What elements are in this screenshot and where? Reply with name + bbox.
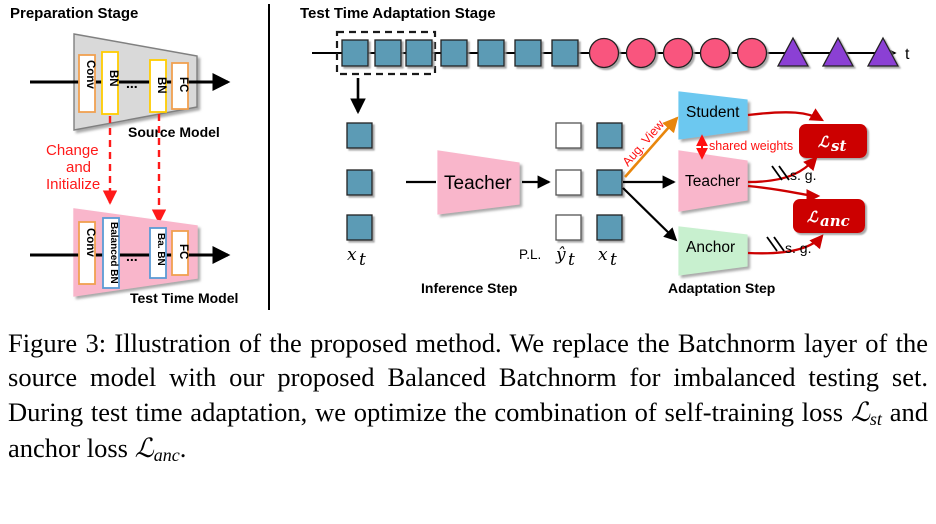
timeline-square-1 [342, 40, 368, 66]
pl-square-1 [556, 123, 581, 148]
loss-st-sub: st [831, 137, 846, 155]
input-square-2 [347, 170, 372, 195]
timeline-axis-label: t [905, 46, 910, 63]
pl-square-2 [556, 170, 581, 195]
tta-stage-title: Test Time Adaptation Stage [300, 5, 496, 22]
input-batch-label-sub: t [359, 250, 366, 270]
adaptation-step-group: Aug. View Student Teacher Anchor shared … [620, 92, 867, 296]
timeline-circle-2 [627, 39, 656, 68]
test-time-model-group: Conv Balanced BN ... Ba. BN FC Test Time… [30, 209, 238, 306]
xt-square-1 [597, 123, 622, 148]
caption-number: Figure 3: [8, 328, 106, 358]
loss-anc-sub: anc [820, 212, 850, 230]
anchor-label: Anchor [686, 239, 735, 256]
source-model-group: Conv BN ... BN FC Source Model [30, 33, 228, 140]
timeline-circle-5 [738, 39, 767, 68]
caption-segment-1: Illustration of the proposed method. We … [8, 328, 928, 427]
xt-label-sub: t [610, 250, 617, 270]
inference-teacher-label: Teacher [444, 173, 512, 194]
caption-loss-st-sub: st [870, 409, 882, 429]
shared-weights-label: shared weights [709, 139, 793, 153]
source-layer-conv-label: Conv [84, 60, 96, 89]
xt-to-anchor-arrow [623, 188, 676, 240]
caption-loss-anc-sub: anc [154, 445, 180, 465]
adaptation-step-caption: Adaptation Step [668, 280, 775, 296]
inference-step-group: 𝑥 t Teacher P.L. ŷ t 𝑥 t Inference Step [347, 123, 622, 296]
test-layer-balanced-bn-1-label: Balanced BN [108, 222, 119, 284]
inference-step-caption: Inference Step [421, 280, 517, 296]
timeline-square-5 [478, 40, 504, 66]
caption-loss-st-symbol: ℒ [851, 397, 870, 428]
timeline-square-2 [375, 40, 401, 66]
student-to-loss-st-arrow [748, 112, 822, 120]
change-initialize-line-2: and [66, 159, 91, 176]
pl-math-label: ŷ [555, 245, 566, 265]
sg-label-1: s. g. [790, 167, 816, 183]
timeline-square-6 [515, 40, 541, 66]
change-initialize-line-3: Initialize [46, 176, 100, 193]
figure-caption: Figure 3: Illustration of the proposed m… [8, 326, 928, 468]
caption-loss-anc-symbol: ℒ [135, 433, 154, 464]
timeline-circle-3 [664, 39, 693, 68]
timeline-circle-4 [701, 39, 730, 68]
xt-square-3 [597, 215, 622, 240]
input-square-3 [347, 215, 372, 240]
teacher-to-loss-anc-arrow [748, 186, 818, 196]
pl-math-label-sub: t [568, 250, 575, 270]
figure-3-diagram: Preparation Stage Conv BN ... BN FC Sour… [0, 0, 936, 316]
xt-label: 𝑥 [598, 245, 608, 265]
timeline: t [312, 32, 910, 74]
pl-square-3 [556, 215, 581, 240]
test-layer-balanced-bn-2-label: Ba. BN [155, 233, 166, 266]
aug-view-label: Aug. View [620, 117, 668, 169]
adapt-teacher-label: Teacher [685, 173, 740, 190]
caption-segment-3: . [180, 433, 187, 463]
timeline-square-3 [406, 40, 432, 66]
change-initialize-line-1: Change [46, 142, 99, 159]
sg-label-2: s. g. [785, 240, 811, 256]
input-square-1 [347, 123, 372, 148]
source-model-label: Source Model [128, 124, 220, 140]
loss-st-symbol: ℒ [818, 133, 830, 151]
student-label: Student [686, 104, 740, 121]
pl-abbrev-label: P.L. [519, 247, 541, 262]
source-layer-fc-label: FC [177, 77, 189, 92]
test-layer-fc-label: FC [177, 244, 189, 259]
test-time-model-label: Test Time Model [130, 290, 238, 306]
source-layer-bn-1-label: BN [107, 70, 119, 87]
change-initialize-label: Change and Initialize [46, 142, 100, 193]
input-batch-label: 𝑥 [347, 245, 357, 265]
source-layer-bn-2-label: BN [155, 77, 167, 94]
test-layer-conv-label: Conv [84, 228, 96, 257]
timeline-square-7 [552, 40, 578, 66]
xt-square-2 [597, 170, 622, 195]
source-layer-ellipsis: ... [126, 75, 138, 91]
preparation-stage-title: Preparation Stage [10, 5, 138, 22]
test-layer-ellipsis: ... [126, 248, 138, 264]
loss-anc-symbol: ℒ [807, 208, 819, 226]
timeline-square-4 [441, 40, 467, 66]
timeline-circle-1 [590, 39, 619, 68]
